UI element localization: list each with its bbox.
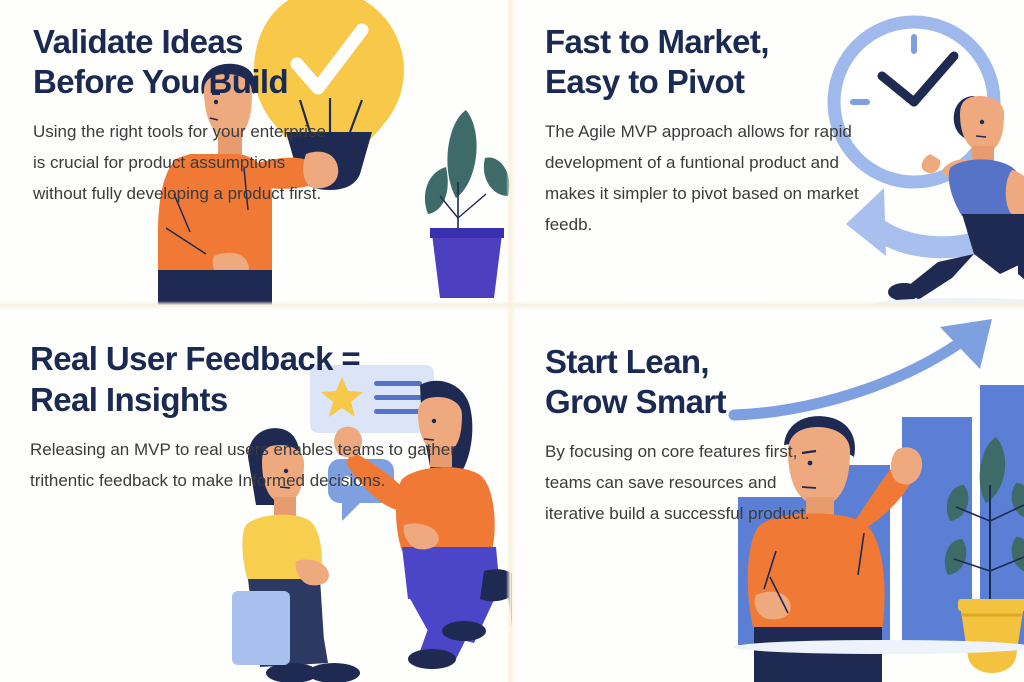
plant-pot [432, 234, 502, 298]
plant-leaf [484, 157, 510, 196]
panel-2-text: Fast to Market, Easy to Pivot The Agile … [545, 22, 865, 240]
runner-trousers [962, 214, 1024, 274]
runner-mouth [976, 136, 986, 137]
panel-2-headline: Fast to Market, Easy to Pivot [545, 22, 865, 102]
pot-rim [430, 228, 504, 238]
shoe-left [308, 663, 360, 682]
panel-2-body: The Agile MVP approach allows for rapid … [545, 116, 865, 240]
panel-4-body: By focusing on core features first, team… [545, 436, 825, 529]
runner-eye [980, 120, 984, 124]
panel-4-headline: Start Lean, Grow Smart [545, 342, 825, 422]
panel-1-text: Validate Ideas Before You Build Using th… [33, 22, 333, 209]
stool-seat [480, 569, 512, 601]
panel-grid: Validate Ideas Before You Build Using th… [0, 0, 1024, 682]
arrow-head [940, 319, 992, 369]
person-trousers [158, 270, 272, 305]
clock-tick-12 [911, 34, 917, 54]
ground-shadow [734, 640, 1024, 654]
panel-1-headline: Validate Ideas Before You Build [33, 22, 333, 102]
potted-plant [425, 110, 510, 298]
plant-leaf [447, 110, 476, 198]
bubble-tail [342, 501, 360, 521]
panel-real-user-feedback: Real User Feedback = Real Insights Relea… [0, 305, 512, 682]
panel-start-lean: Start Lean, Grow Smart By focusing on co… [512, 305, 1024, 682]
panel-3-headline: Real User Feedback = Real Insights [30, 338, 460, 420]
cube-seat [232, 591, 290, 665]
panel-1-body: Using the right tools for your enterpris… [33, 116, 333, 209]
panel-3-body: Releasing an MVP to real users enables t… [30, 434, 460, 496]
plant-stem [458, 194, 486, 218]
panel-fast-to-market: Fast to Market, Easy to Pivot The Agile … [512, 0, 1024, 305]
plant-leaf [425, 167, 448, 214]
panel-4-text: Start Lean, Grow Smart By focusing on co… [545, 342, 825, 529]
panel-validate-ideas: Validate Ideas Before You Build Using th… [0, 0, 512, 305]
runner-leg-front [1018, 250, 1024, 296]
panel-3-text: Real User Feedback = Real Insights Relea… [30, 338, 460, 496]
plant-stem [440, 196, 458, 218]
shoe-right [442, 621, 486, 641]
neck-left [274, 497, 296, 517]
shoe-right [408, 649, 456, 669]
person-trousers [754, 627, 882, 682]
runner-shoe [888, 283, 920, 301]
infographic-canvas: Validate Ideas Before You Build Using th… [0, 0, 1024, 682]
stool-leg [510, 595, 512, 673]
pot-rim [958, 599, 1024, 611]
